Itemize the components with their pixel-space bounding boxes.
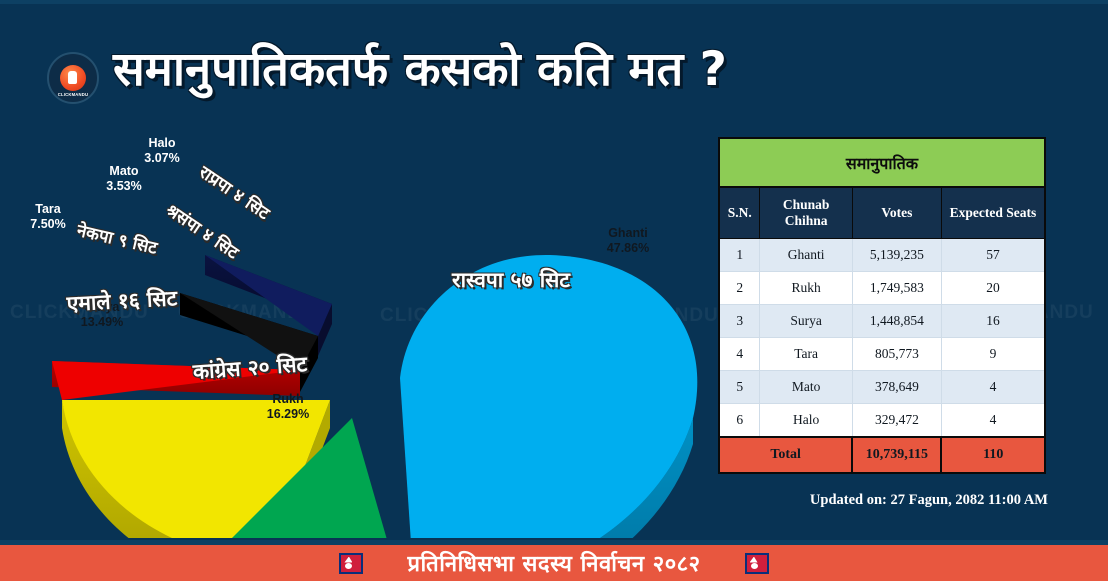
nepal-flag-icon (339, 553, 363, 574)
table-total-row: Total 10,739,115 110 (719, 437, 1045, 473)
cell-chihna: Ghanti (760, 239, 852, 272)
clickmandu-logo: CLICKMANDU (47, 52, 99, 104)
cell-chihna: Rukh (760, 272, 852, 305)
cell-seats: 16 (941, 305, 1045, 338)
cell-seats: 57 (941, 239, 1045, 272)
table-caption: समानुपातिक (718, 137, 1046, 186)
cell-seats: 4 (941, 371, 1045, 404)
updated-on-value: 27 Fagun, 2082 11:00 AM (891, 492, 1049, 508)
cell-chihna: Mato (760, 371, 852, 404)
updated-on-label: Updated on: (810, 492, 887, 508)
cell-sn: 2 (719, 272, 760, 305)
page-header: CLICKMANDU समानुपातिकतर्फ कसको कति मत ? (0, 4, 1108, 116)
table-header-row: S.N. Chunab Chihna Votes Expected Seats (719, 187, 1045, 239)
cell-sn: 6 (719, 404, 760, 438)
cell-sn: 3 (719, 305, 760, 338)
cell-chihna: Surya (760, 305, 852, 338)
results-table: S.N. Chunab Chihna Votes Expected Seats … (718, 186, 1046, 474)
page-title: समानुपातिकतर्फ कसको कति मत ? (113, 32, 933, 108)
cell-votes: 5,139,235 (852, 239, 941, 272)
cell-votes: 1,448,854 (852, 305, 941, 338)
col-header-seats: Expected Seats (941, 187, 1045, 239)
cell-chihna: Halo (760, 404, 852, 438)
slice-label-mato: Mato 3.53% (88, 164, 160, 194)
table-row: 1 Ghanti 5,139,235 57 (719, 239, 1045, 272)
table-row: 5 Mato 378,649 4 (719, 371, 1045, 404)
page-footer: प्रतिनिधिसभा सदस्य निर्वाचन २०८२ (0, 545, 1108, 581)
results-table-panel: समानुपातिक S.N. Chunab Chihna Votes Expe… (718, 137, 1046, 474)
cell-chihna: Tara (760, 338, 852, 371)
slice-label-halo: Halo 3.07% (126, 136, 198, 166)
slice-party-label-ghanti: रास्वपा ५७ सिट (452, 266, 570, 294)
table-row: 6 Halo 329,472 4 (719, 404, 1045, 438)
table-row: 3 Surya 1,448,854 16 (719, 305, 1045, 338)
cell-seats: 20 (941, 272, 1045, 305)
cell-total-seats: 110 (941, 437, 1045, 473)
cell-sn: 5 (719, 371, 760, 404)
logo-flame-icon (60, 65, 86, 91)
logo-label: CLICKMANDU (49, 92, 97, 97)
cell-votes: 1,749,583 (852, 272, 941, 305)
cell-total-label: Total (719, 437, 852, 473)
col-header-sn: S.N. (719, 187, 760, 239)
slice-label-rukh: Rukh 16.29% (250, 392, 326, 422)
cell-votes: 329,472 (852, 404, 941, 438)
col-header-votes: Votes (852, 187, 941, 239)
slice-label-ghanti: Ghanti 47.86% (590, 226, 666, 256)
cell-votes: 378,649 (852, 371, 941, 404)
cell-seats: 9 (941, 338, 1045, 371)
footer-title: प्रतिनिधिसभा सदस्य निर्वाचन २०८२ (407, 548, 700, 578)
pie-chart: Halo 3.07% Mato 3.53% Tara 7.50% Surya 1… (0, 118, 720, 538)
cell-votes: 805,773 (852, 338, 941, 371)
cell-total-votes: 10,739,115 (852, 437, 941, 473)
updated-on: Updated on: 27 Fagun, 2082 11:00 AM (718, 492, 1048, 509)
cell-sn: 1 (719, 239, 760, 272)
slice-party-label-surya: एमाले १६ सिट (66, 284, 178, 318)
slice-label-tara: Tara 7.50% (12, 202, 84, 232)
table-row: 4 Tara 805,773 9 (719, 338, 1045, 371)
cell-seats: 4 (941, 404, 1045, 438)
nepal-flag-icon (745, 553, 769, 574)
col-header-chihna: Chunab Chihna (760, 187, 852, 239)
table-row: 2 Rukh 1,749,583 20 (719, 272, 1045, 305)
cell-sn: 4 (719, 338, 760, 371)
